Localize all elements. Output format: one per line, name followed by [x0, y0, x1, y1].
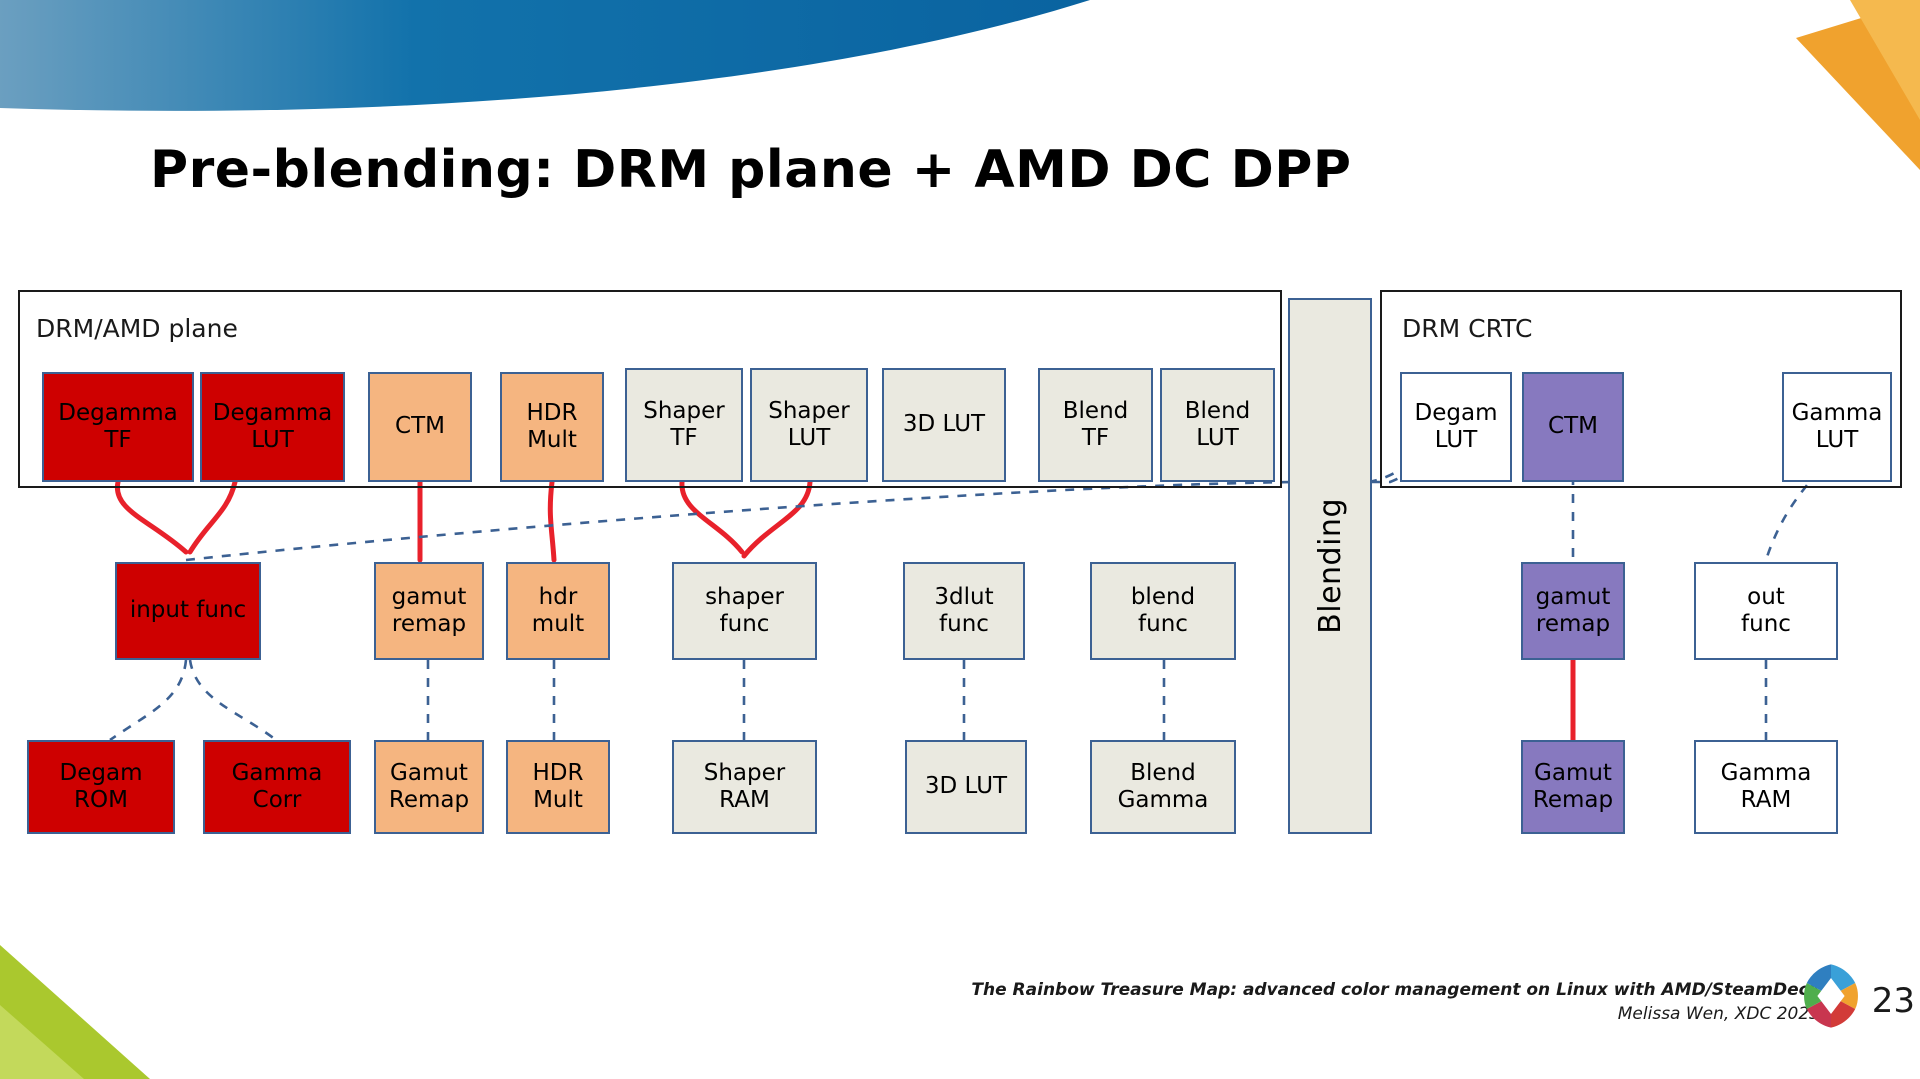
node-degamma-tf[interactable]: Degamma TF [42, 372, 194, 482]
node-blend-lut[interactable]: Blend LUT [1160, 368, 1275, 482]
footer-author: Melissa Wen, XDC 2023 [971, 1004, 1820, 1024]
rainbow-diamond-logo-icon [1800, 961, 1862, 1031]
node-hdr-mult-func[interactable]: hdr mult [506, 562, 610, 660]
footer: The Rainbow Treasure Map: advanced color… [971, 980, 1820, 1024]
node-input-func[interactable]: input func [115, 562, 261, 660]
node-degamma-lut[interactable]: Degamma LUT [200, 372, 345, 482]
node-crtc-gamut-remap[interactable]: gamut remap [1521, 562, 1625, 660]
node-gamma-corr[interactable]: Gamma Corr [203, 740, 351, 834]
node-3d-lut-hw[interactable]: 3D LUT [905, 740, 1027, 834]
node-blend-tf[interactable]: Blend TF [1038, 368, 1153, 482]
node-gamma-ram[interactable]: Gamma RAM [1694, 740, 1838, 834]
node-blend-func[interactable]: blend func [1090, 562, 1236, 660]
blending-label: Blending [1313, 498, 1348, 634]
slide-number: 23 [1872, 981, 1915, 1021]
footer-talk-title: The Rainbow Treasure Map: advanced color… [971, 980, 1820, 1000]
connector-wires [0, 0, 1920, 1079]
panel-drm-amd-plane-label: DRM/AMD plane [36, 314, 238, 343]
node-hdr-mult[interactable]: HDR Mult [500, 372, 604, 482]
node-gamut-remap-hw[interactable]: Gamut Remap [374, 740, 484, 834]
node-shaper-lut[interactable]: Shaper LUT [750, 368, 868, 482]
node-crtc-ctm[interactable]: CTM [1522, 372, 1624, 482]
node-ctm[interactable]: CTM [368, 372, 472, 482]
node-degam-lut[interactable]: Degam LUT [1400, 372, 1512, 482]
blending-column: Blending [1288, 298, 1372, 834]
node-gamma-lut[interactable]: Gamma LUT [1782, 372, 1892, 482]
diagram-canvas: DRM/AMD plane Degamma TF Degamma LUT CTM… [0, 0, 1920, 1079]
node-out-func[interactable]: out func [1694, 562, 1838, 660]
node-hdr-mult-hw[interactable]: HDR Mult [506, 740, 610, 834]
node-shaper-func[interactable]: shaper func [672, 562, 817, 660]
node-gamut-remap[interactable]: gamut remap [374, 562, 484, 660]
node-blend-gamma[interactable]: Blend Gamma [1090, 740, 1236, 834]
node-3dlut-func[interactable]: 3dlut func [903, 562, 1025, 660]
node-shaper-ram[interactable]: Shaper RAM [672, 740, 817, 834]
node-crtc-gamut-remap-hw[interactable]: Gamut Remap [1521, 740, 1625, 834]
node-degam-rom[interactable]: Degam ROM [27, 740, 175, 834]
node-shaper-tf[interactable]: Shaper TF [625, 368, 743, 482]
panel-drm-crtc-label: DRM CRTC [1402, 314, 1532, 343]
node-3d-lut[interactable]: 3D LUT [882, 368, 1006, 482]
